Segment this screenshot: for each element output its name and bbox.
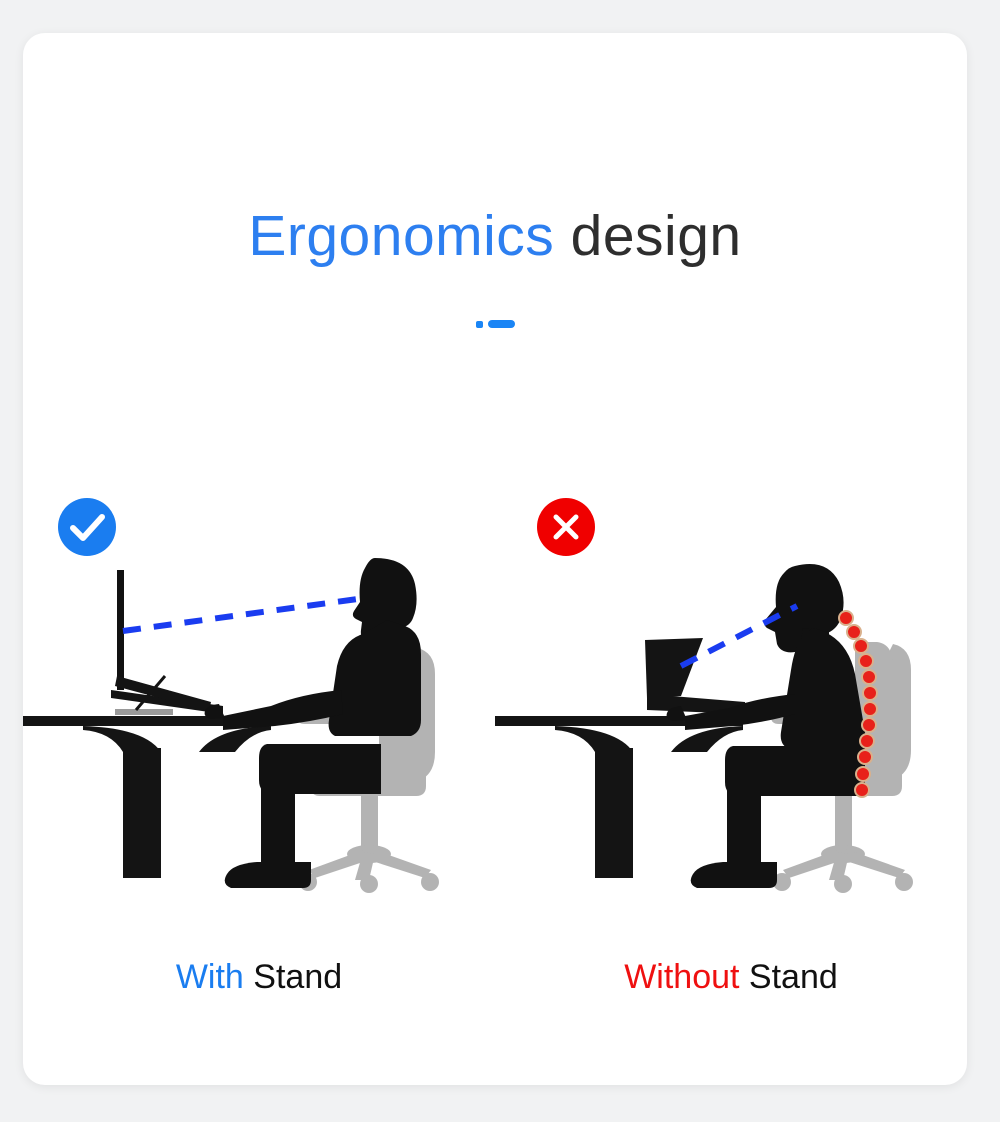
caption-without-stand: Without Stand [495,958,967,997]
laptop-on-stand [111,570,223,715]
caption-without-stand-highlight: Without [624,958,739,996]
page-title-highlight: Ergonomics [248,204,554,268]
caption-without-stand-rest: Stand [749,958,838,996]
page-root: Ergonomics design [0,0,1000,1122]
laptop-flat [645,638,745,714]
divider-dot [476,321,483,328]
page-title-rest: design [571,204,742,268]
illustration-without-stand [495,548,967,898]
illustration-with-stand [23,548,495,898]
sightline-dashed-line [123,598,365,631]
ergonomics-card: Ergonomics design [23,33,967,1085]
page-title: Ergonomics design [23,203,967,269]
caption-with-stand: With Stand [23,958,495,997]
comparison-panel-without-stand: Without Stand [495,453,967,1053]
caption-with-stand-highlight: With [176,958,244,996]
comparison-panels: With Stand [23,453,967,1053]
desk [23,716,271,878]
desk [495,716,743,878]
title-divider [23,316,967,332]
caption-with-stand-rest: Stand [253,958,342,996]
comparison-panel-with-stand: With Stand [23,453,495,1053]
divider-dash [488,320,515,328]
